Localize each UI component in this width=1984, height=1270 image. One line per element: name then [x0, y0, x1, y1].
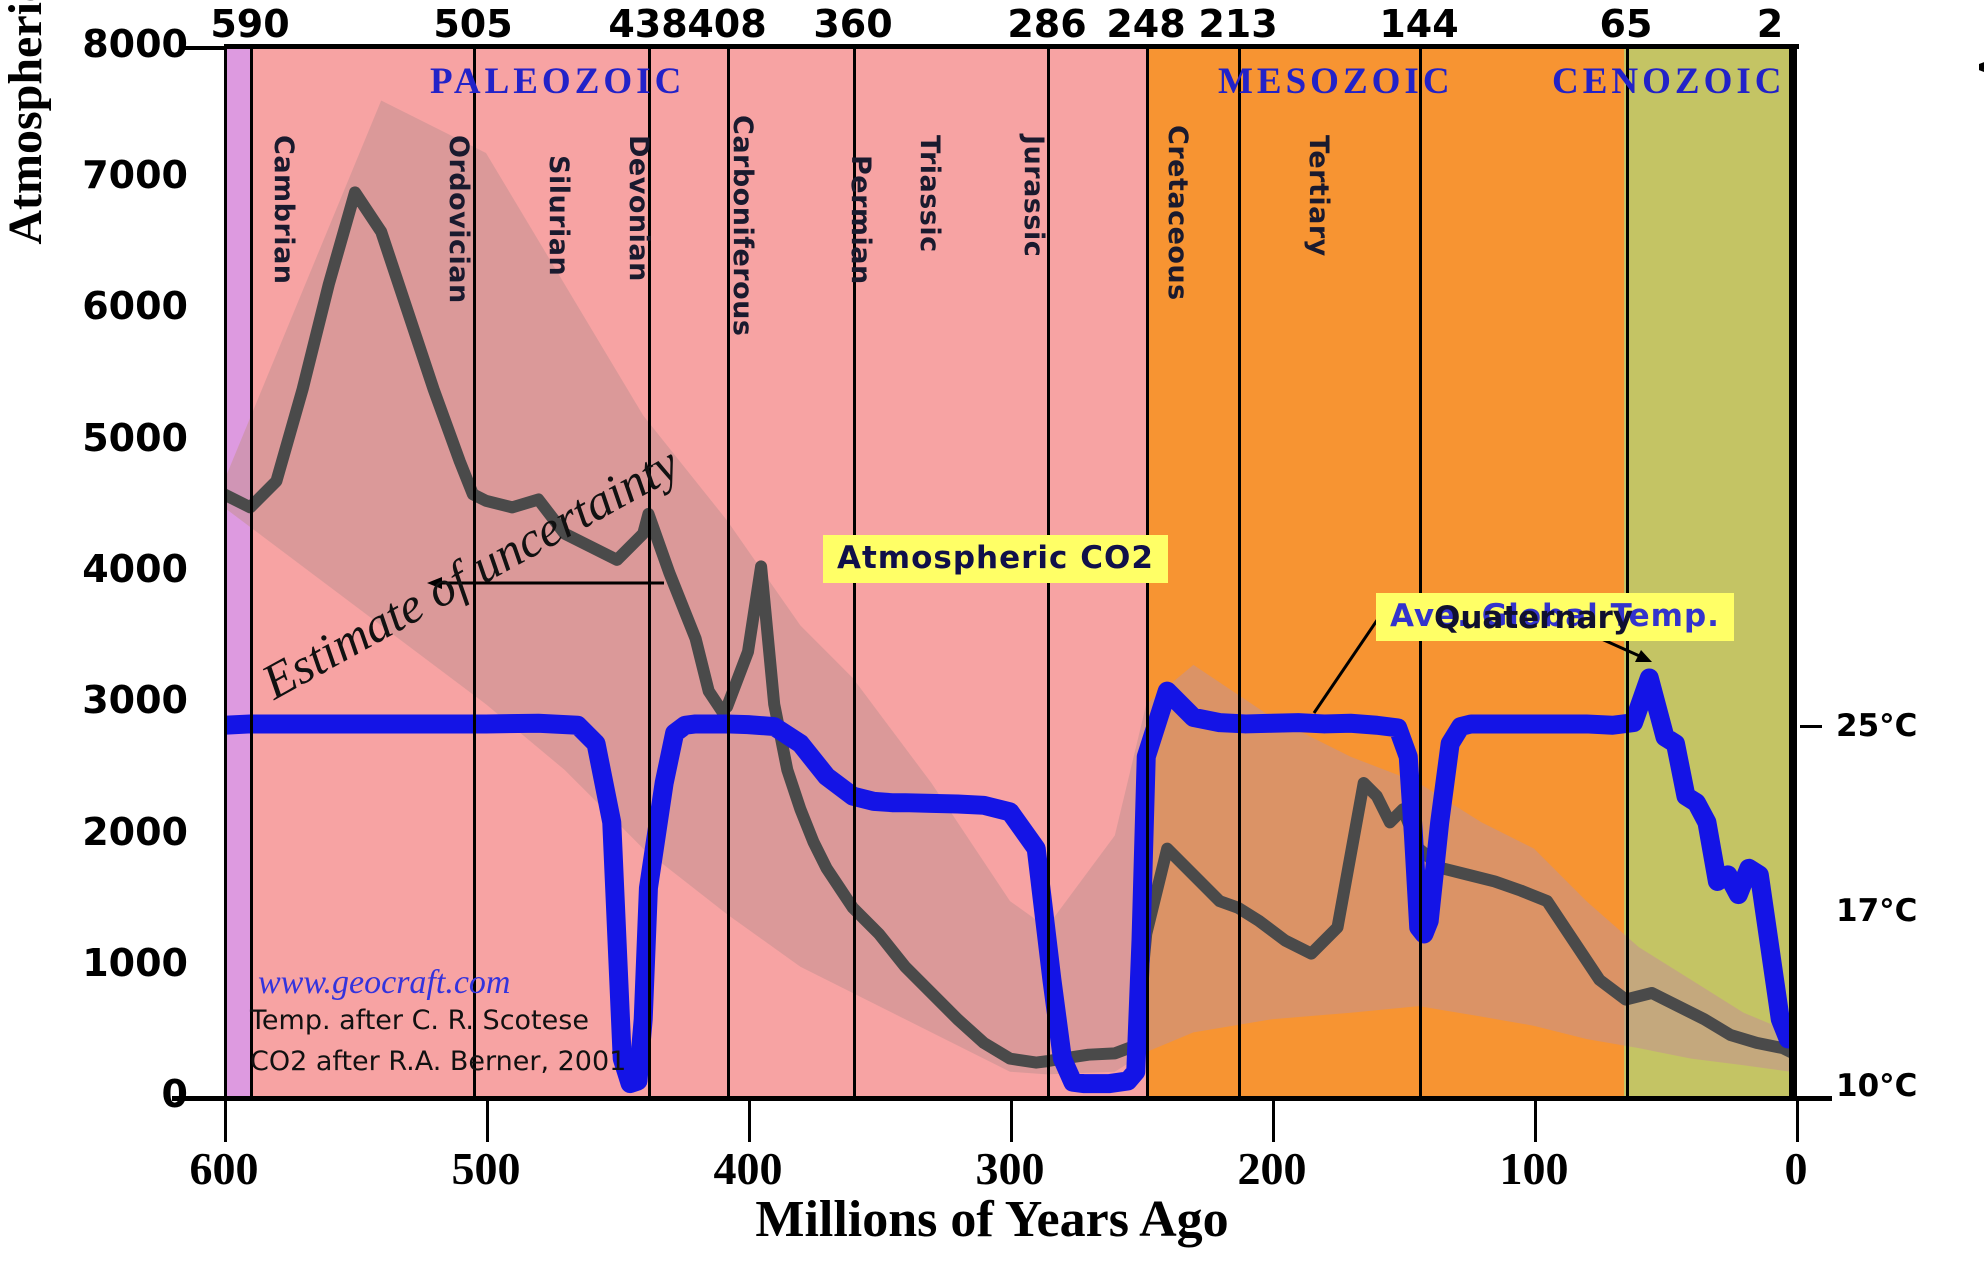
quaternary-label: Quaternary [1434, 600, 1633, 636]
era-label-mesozoic: MESOZOIC [1218, 60, 1454, 103]
top-tick-590: 590 [180, 2, 320, 46]
x-tick-500: 500 [416, 1142, 556, 1195]
x-tick-600: 600 [154, 1142, 294, 1195]
period-label-devonian: Devonian [623, 135, 654, 282]
period-divider-65 [1626, 48, 1629, 1098]
x-tickmark-0 [1796, 1098, 1799, 1142]
x-tickmark-200 [1272, 1098, 1275, 1142]
y-tick-0: 0 [8, 1072, 188, 1116]
y2-axis-label: Average Global Temperature [1968, 0, 1984, 190]
period-label-silurian: Silurian [543, 155, 574, 276]
top-tick-360: 360 [783, 2, 923, 46]
y-axis-line [224, 44, 227, 1100]
right-tick-25c: 25°C [1836, 708, 1917, 744]
x-tick-0: 0 [1726, 1142, 1866, 1195]
period-label-triassic: Triassic [914, 135, 945, 253]
x-tickmark-400 [748, 1098, 751, 1142]
period-label-carboniferous: Carboniferous [727, 115, 758, 336]
era-label-cenozoic: CENOZOIC [1552, 60, 1785, 103]
x-axis-label: Millions of Years Ago [0, 1190, 1984, 1249]
period-label-cretaceous: Cretaceous [1162, 125, 1193, 301]
y-tick-1000: 1000 [8, 941, 188, 985]
period-divider-590 [250, 48, 253, 1098]
top-tick-213: 213 [1168, 2, 1308, 46]
website-link[interactable]: www.geocraft.com [258, 964, 510, 1002]
top-tick-144: 144 [1349, 2, 1489, 46]
co2-temperature-geologic-chart: PALEOZOIC MESOZOIC CENOZOIC Cambrian Ord… [0, 0, 1984, 1270]
x-tick-300: 300 [940, 1142, 1080, 1195]
x-tick-200: 200 [1202, 1142, 1342, 1195]
period-divider-144 [1419, 48, 1422, 1098]
co2-callout-label: Atmospheric CO2 [823, 535, 1168, 583]
top-tick-2: 2 [1700, 2, 1840, 46]
x-tickmark-500 [486, 1098, 489, 1142]
right-tick-17c: 17°C [1836, 893, 1917, 929]
period-label-tertiary: Tertiary [1303, 135, 1334, 257]
x-tickmark-100 [1534, 1098, 1537, 1142]
top-tick-65: 65 [1556, 2, 1696, 46]
y-tick-5000: 5000 [8, 416, 188, 460]
credit-co2: CO2 after R.A. Berner, 2001 [250, 1046, 626, 1077]
y-tick-3000: 3000 [8, 678, 188, 722]
plot-border-right [1789, 44, 1797, 1100]
x-tick-400: 400 [678, 1142, 818, 1195]
y-tick-2000: 2000 [8, 810, 188, 854]
right-tickmark-25c [1800, 725, 1822, 728]
period-label-ordovician: Ordovician [443, 135, 474, 304]
right-tick-10c: 10°C [1836, 1068, 1917, 1104]
x-tick-100: 100 [1464, 1142, 1604, 1195]
x-axis-line [172, 1096, 1832, 1101]
period-label-permian: Permian [845, 155, 876, 285]
top-tick-408: 408 [657, 2, 797, 46]
x-tickmark-600 [224, 1098, 227, 1142]
x-tickmark-300 [1010, 1098, 1013, 1142]
period-label-cambrian: Cambrian [268, 135, 299, 285]
top-tick-505: 505 [403, 2, 543, 46]
y-tickmark-0 [182, 1096, 226, 1100]
period-divider-213 [1238, 48, 1241, 1098]
y-tick-4000: 4000 [8, 547, 188, 591]
period-label-jurassic: Jurassic [1018, 135, 1049, 257]
era-label-paleozoic: PALEOZOIC [430, 60, 685, 103]
y-tickmark-8000 [182, 46, 226, 50]
credit-temperature: Temp. after C. R. Scotese [250, 1005, 589, 1036]
y-axis-label: Atmospheric CO2 (ppm) [0, 0, 53, 300]
